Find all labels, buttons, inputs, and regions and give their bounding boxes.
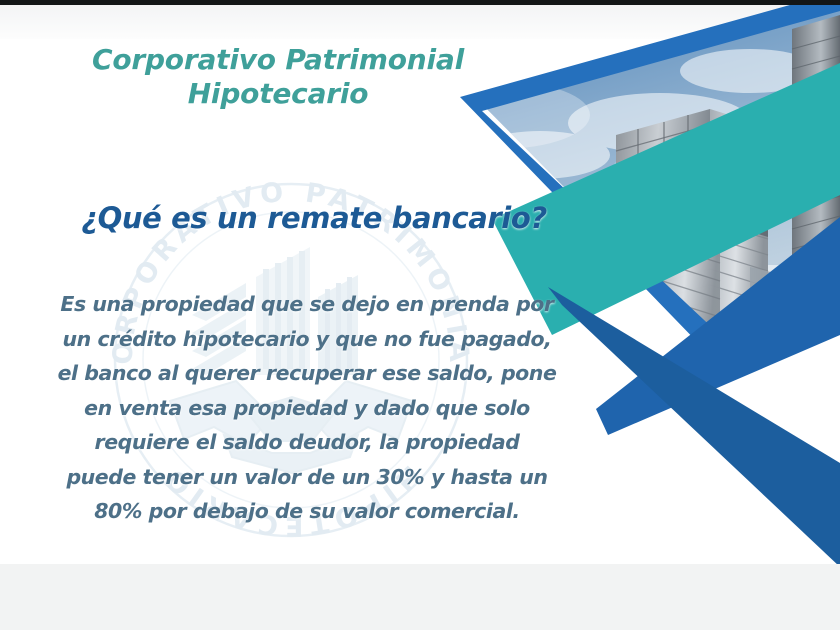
screenshot-canvas: CORPORATIVO PATRIMONIAL HIPOTECARIO xyxy=(0,0,840,630)
body-line: requiere el saldo deudor, la propiedad xyxy=(6,425,608,460)
body-line: un crédito hipotecario y que no fue paga… xyxy=(6,322,608,357)
body-line: en venta esa propiedad y dado que solo xyxy=(6,391,608,426)
brand-title: Corporativo Patrimonial Hipotecario xyxy=(38,43,518,112)
body-line: Es una propiedad que se dejo en prenda p… xyxy=(6,287,608,322)
flyer-artboard: CORPORATIVO PATRIMONIAL HIPOTECARIO xyxy=(0,5,840,564)
body-line: 80% por debajo de su valor comercial. xyxy=(6,494,608,529)
body-line: el banco al querer recuperar ese saldo, … xyxy=(6,356,608,391)
brand-title-line2: Hipotecario xyxy=(38,77,518,111)
brand-title-line1: Corporativo Patrimonial xyxy=(38,43,518,77)
letterbox-bar-bottom xyxy=(0,564,840,630)
body-line: puede tener un valor de un 30% y hasta u… xyxy=(6,460,608,495)
headline-question: ¿Qué es un remate bancario? xyxy=(18,201,610,235)
body-paragraph: Es una propiedad que se dejo en prenda p… xyxy=(6,287,608,529)
